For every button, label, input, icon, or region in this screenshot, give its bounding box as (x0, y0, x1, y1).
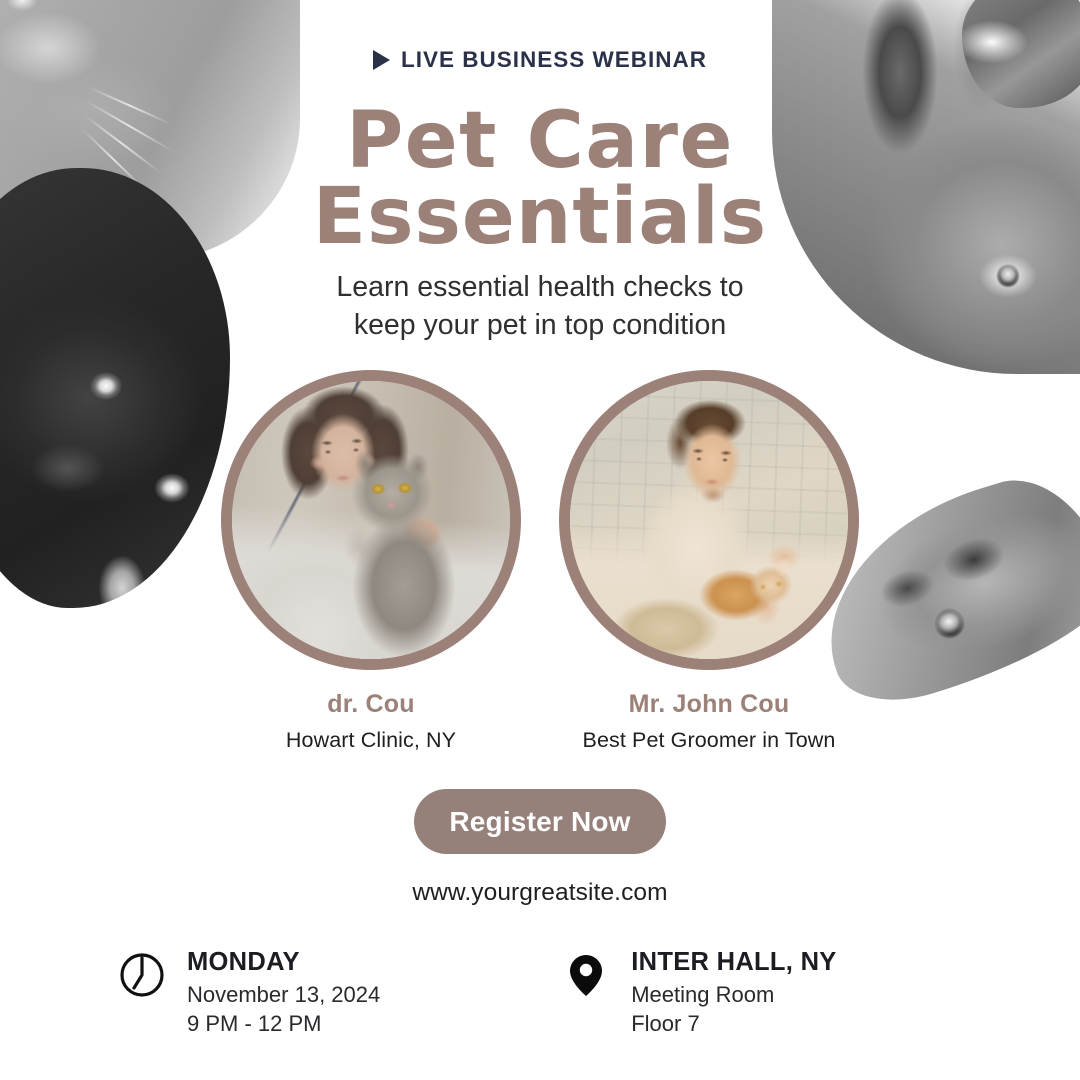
speaker-2-name: Mr. John Cou (559, 690, 859, 719)
avatar-speaker-2 (559, 370, 859, 670)
subtitle: Learn essential health checks to keep yo… (0, 269, 1080, 345)
website-url[interactable]: www.yourgreatsite.com (0, 879, 1080, 907)
webinar-poster: LIVE BUSINESS WEBINAR Pet Care Essential… (0, 0, 1080, 1080)
speaker-1-photo (232, 381, 510, 659)
date-line-1: November 13, 2024 (187, 980, 380, 1009)
speaker-card-2: Mr. John Cou Best Pet Groomer in Town (559, 370, 859, 753)
speaker-2-photo (570, 381, 848, 659)
kicker-label: LIVE BUSINESS WEBINAR (401, 47, 707, 73)
speakers-row: dr. Cou Howart Clinic, NY Mr. John Cou B… (0, 370, 1080, 753)
venue-line-2: Floor 7 (631, 1009, 836, 1038)
kicker-row: LIVE BUSINESS WEBINAR (0, 47, 1080, 73)
avatar-speaker-1 (221, 370, 521, 670)
date-info-text: MONDAY November 13, 2024 9 PM - 12 PM (187, 948, 380, 1038)
play-triangle-icon (373, 50, 390, 70)
venue-info-block: INTER HALL, NY Meeting Room Floor 7 (562, 948, 836, 1038)
subtitle-line-2: keep your pet in top condition (0, 307, 1080, 345)
location-pin-icon (562, 948, 610, 1004)
speaker-card-1: dr. Cou Howart Clinic, NY (221, 370, 521, 753)
date-info-block: MONDAY November 13, 2024 9 PM - 12 PM (118, 948, 380, 1038)
clock-icon (118, 948, 166, 1004)
speaker-1-name: dr. Cou (221, 690, 521, 719)
speaker-1-role: Howart Clinic, NY (221, 728, 521, 753)
page-title: Pet Care Essentials (0, 104, 1080, 255)
title-line-1: Pet Care (0, 104, 1080, 180)
register-now-button[interactable]: Register Now (414, 789, 666, 854)
title-line-2: Essentials (0, 180, 1080, 256)
date-line-2: 9 PM - 12 PM (187, 1009, 380, 1038)
speaker-2-role: Best Pet Groomer in Town (559, 728, 859, 753)
venue-title: INTER HALL, NY (631, 948, 836, 976)
footer-info: MONDAY November 13, 2024 9 PM - 12 PM IN… (0, 948, 1080, 1038)
venue-line-1: Meeting Room (631, 980, 836, 1009)
venue-info-text: INTER HALL, NY Meeting Room Floor 7 (631, 948, 836, 1038)
subtitle-line-1: Learn essential health checks to (0, 269, 1080, 307)
date-title: MONDAY (187, 948, 380, 976)
